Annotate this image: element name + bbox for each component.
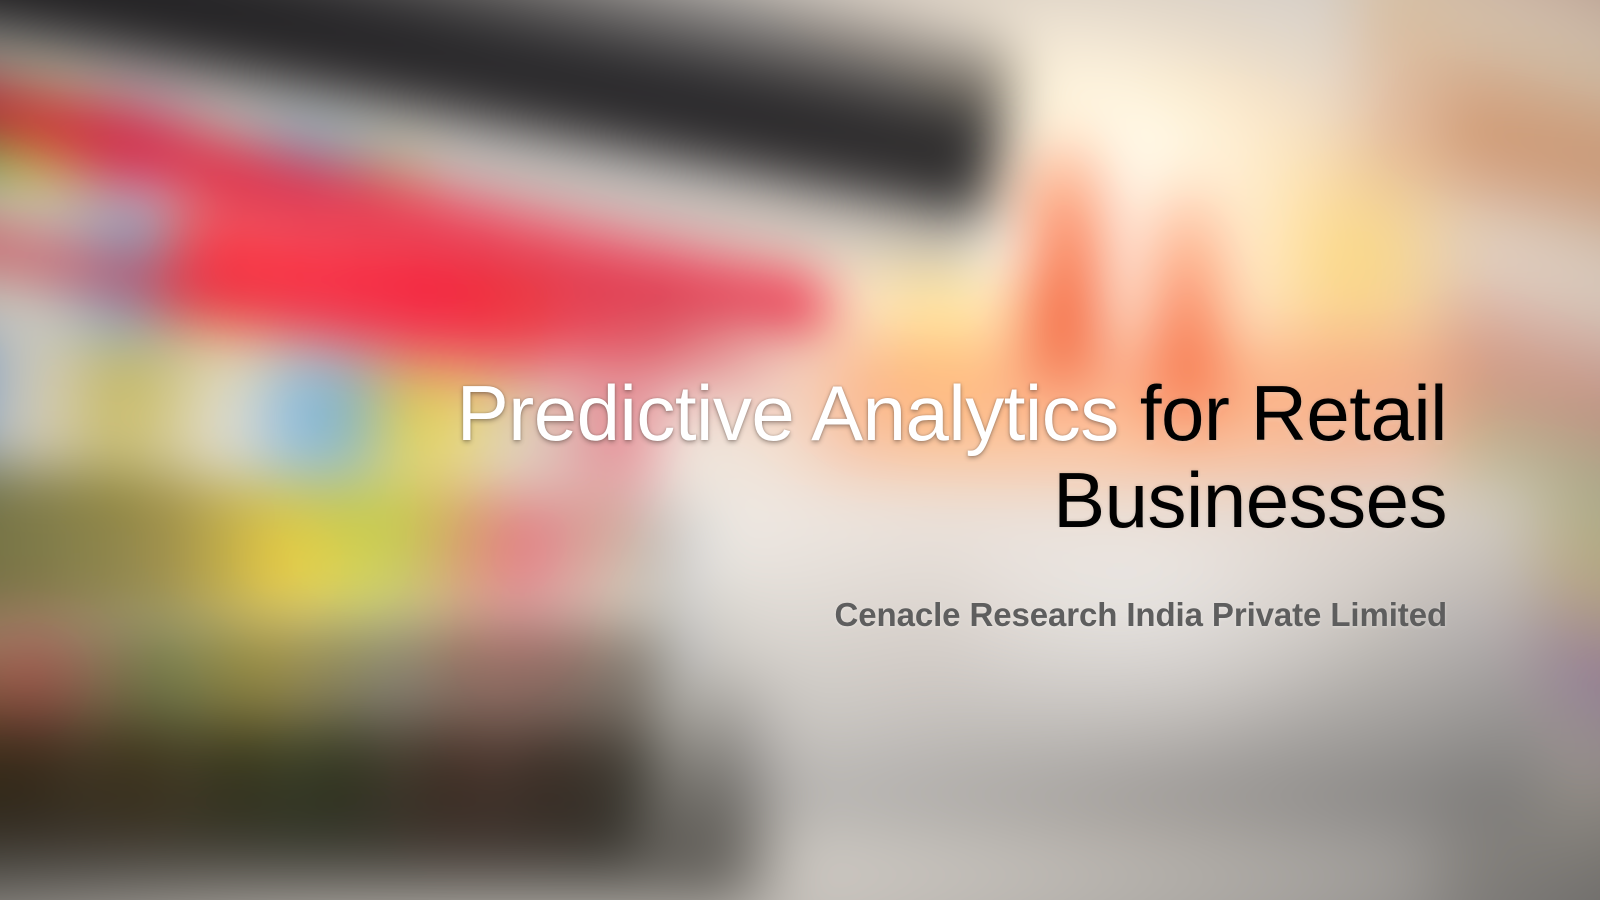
title-light-part: Predictive Analytics [457, 369, 1119, 457]
title-dark-part: for Retail [1119, 369, 1447, 457]
slide-subtitle: Cenacle Research India Private Limited [835, 596, 1447, 634]
title-second-line: Businesses [1053, 456, 1447, 544]
page-title: Predictive Analytics for RetailBusinesse… [107, 370, 1447, 545]
title-slide: Predictive Analytics for RetailBusinesse… [0, 0, 1600, 900]
slide-text-block: Predictive Analytics for RetailBusinesse… [0, 0, 1447, 900]
shelf-right-diagonal [1440, 0, 1600, 900]
